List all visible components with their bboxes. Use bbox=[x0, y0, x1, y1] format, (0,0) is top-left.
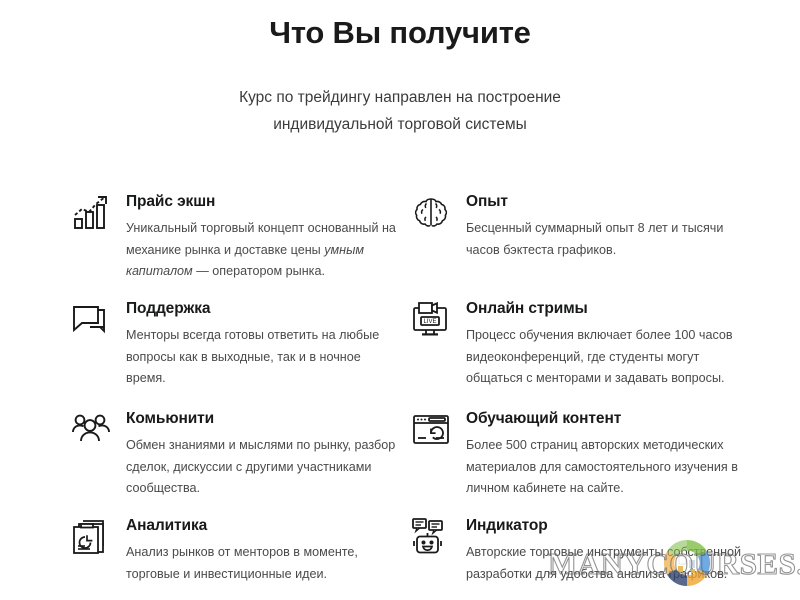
feature-body: Опыт Бесценный суммарный опыт 8 лет и ты… bbox=[466, 190, 742, 261]
documents-pie-chart-icon bbox=[68, 516, 114, 562]
feature-item-experience: Опыт Бесценный суммарный опыт 8 лет и ты… bbox=[408, 190, 748, 297]
feature-title: Опыт bbox=[466, 193, 742, 210]
feature-description: Бесценный суммарный опыт 8 лет и тысячи … bbox=[466, 218, 742, 261]
feature-body: Онлайн стримы Процесс обучения включает … bbox=[466, 297, 742, 390]
feature-item-analytics: Аналитика Анализ рынков от менторов в мо… bbox=[68, 514, 408, 594]
feature-title: Прайс экшн bbox=[126, 193, 402, 210]
feature-description: Анализ рынков от менторов в моменте, тор… bbox=[126, 542, 402, 585]
feature-item-price-action: Прайс экшн Уникальный торговый концепт о… bbox=[68, 190, 408, 297]
feature-description: Более 500 страниц авторских методических… bbox=[466, 435, 742, 500]
feature-body: Прайс экшн Уникальный торговый концепт о… bbox=[126, 190, 402, 283]
feature-body: Комьюнити Обмен знаниями и мыслями по ры… bbox=[126, 407, 402, 500]
robot-chat-icon bbox=[408, 516, 454, 562]
feature-body: Индикатор Авторские торговые инструменты… bbox=[466, 514, 742, 585]
feature-body: Обучающий контент Более 500 страниц авто… bbox=[466, 407, 742, 500]
brain-icon bbox=[408, 192, 454, 238]
feature-title: Комьюнити bbox=[126, 410, 402, 427]
feature-item-community: Комьюнити Обмен знаниями и мыслями по ры… bbox=[68, 407, 408, 514]
page-subtitle: Курс по трейдингу направлен на построени… bbox=[0, 51, 800, 138]
page-title: Что Вы получите bbox=[0, 14, 800, 51]
page-subtitle-line-1: Курс по трейдингу направлен на построени… bbox=[0, 84, 800, 111]
feature-body: Поддержка Менторы всегда готовы ответить… bbox=[126, 297, 402, 390]
people-group-icon bbox=[68, 409, 114, 455]
bar-chart-growth-icon bbox=[68, 192, 114, 238]
feature-description: Уникальный торговый концепт основанный н… bbox=[126, 218, 402, 283]
feature-title: Обучающий контент bbox=[466, 410, 742, 427]
feature-item-indicator: Индикатор Авторские торговые инструменты… bbox=[408, 514, 748, 594]
browser-window-icon bbox=[408, 409, 454, 455]
feature-item-support: Поддержка Менторы всегда готовы ответить… bbox=[68, 297, 408, 407]
feature-title: Индикатор bbox=[466, 517, 742, 534]
feature-description: Авторские торговые инструменты собственн… bbox=[466, 542, 742, 585]
feature-title: Онлайн стримы bbox=[466, 300, 742, 317]
feature-title: Аналитика bbox=[126, 517, 402, 534]
svg-text:LIVE: LIVE bbox=[423, 319, 436, 325]
feature-description: Обмен знаниями и мыслями по рынку, разбо… bbox=[126, 435, 402, 500]
feature-title: Поддержка bbox=[126, 300, 402, 317]
speech-bubbles-icon bbox=[68, 299, 114, 345]
feature-body: Аналитика Анализ рынков от менторов в мо… bbox=[126, 514, 402, 585]
feature-item-learning-content: Обучающий контент Более 500 страниц авто… bbox=[408, 407, 748, 514]
page-header: Что Вы получите Курс по трейдингу направ… bbox=[0, 0, 800, 138]
feature-description: Процесс обучения включает более 100 часо… bbox=[466, 325, 742, 390]
features-grid: Прайс экшн Уникальный торговый концепт о… bbox=[0, 190, 800, 594]
feature-item-online-streams: LIVE Онлайн стримы Процесс обучения вклю… bbox=[408, 297, 748, 407]
desc-part-2: — оператором рынка. bbox=[193, 264, 325, 278]
page-subtitle-line-2: индивидуальной торговой системы bbox=[0, 111, 800, 138]
feature-description: Менторы всегда готовы ответить на любые … bbox=[126, 325, 402, 390]
live-stream-monitor-icon: LIVE bbox=[408, 299, 454, 345]
